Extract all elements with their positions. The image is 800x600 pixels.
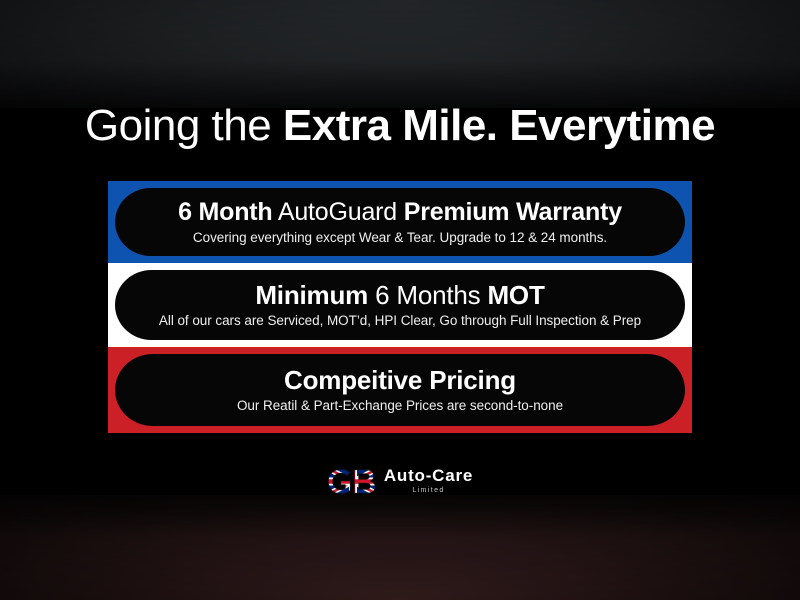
banner-mot-title: Minimum 6 Months MOT <box>255 281 544 309</box>
banner-warranty-title-tail: Premium Warranty <box>404 198 622 226</box>
banner-pricing-inner: Compeitive Pricing Our Reatil & Part-Exc… <box>115 354 685 426</box>
banner-pricing: Compeitive Pricing Our Reatil & Part-Exc… <box>108 347 692 433</box>
banner-mot-title-tail: MOT <box>487 280 544 310</box>
page-title: Going the Extra Mile. Everytime <box>0 103 800 149</box>
background-top-glow <box>0 0 800 108</box>
feature-banner-list: 6 Month AutoGuard Premium Warranty Cover… <box>108 181 692 433</box>
brand-logo: Auto-Care Limited <box>0 467 800 495</box>
banner-pricing-title-lead: Compeitive Pricing <box>284 365 516 395</box>
headline-bold-text: Extra Mile. Everytime <box>283 101 715 150</box>
headline-light-text: Going the <box>85 101 283 150</box>
banner-pricing-title: Compeitive Pricing <box>284 366 516 394</box>
banner-mot-title-mid: 6 Months <box>368 280 487 310</box>
brand-logo-wordmark: Auto-Care Limited <box>384 467 473 495</box>
brand-suffix: Limited <box>412 486 444 495</box>
promo-banner-image: Going the Extra Mile. Everytime 6 Month … <box>0 0 800 600</box>
banner-warranty-title: 6 Month AutoGuard Premium Warranty <box>178 198 622 226</box>
brand-name: Auto-Care <box>384 467 473 485</box>
banner-pricing-subtitle: Our Reatil & Part-Exchange Prices are se… <box>237 397 563 414</box>
banner-mot-inner: Minimum 6 Months MOT All of our cars are… <box>115 270 685 340</box>
banner-warranty-title-mid: AutoGuard <box>273 198 404 226</box>
banner-warranty-subtitle: Covering everything except Wear & Tear. … <box>193 229 607 246</box>
banner-mot: Minimum 6 Months MOT All of our cars are… <box>108 263 692 347</box>
banner-mot-title-lead: Minimum <box>255 280 368 310</box>
banner-warranty-inner: 6 Month AutoGuard Premium Warranty Cover… <box>115 188 685 256</box>
banner-warranty-title-lead: 6 Month <box>178 198 272 226</box>
gb-union-jack-monogram-icon <box>327 468 379 495</box>
background-bottom-glow <box>0 495 800 600</box>
banner-warranty: 6 Month AutoGuard Premium Warranty Cover… <box>108 181 692 263</box>
banner-mot-subtitle: All of our cars are Serviced, MOT’d, HPI… <box>159 312 641 329</box>
